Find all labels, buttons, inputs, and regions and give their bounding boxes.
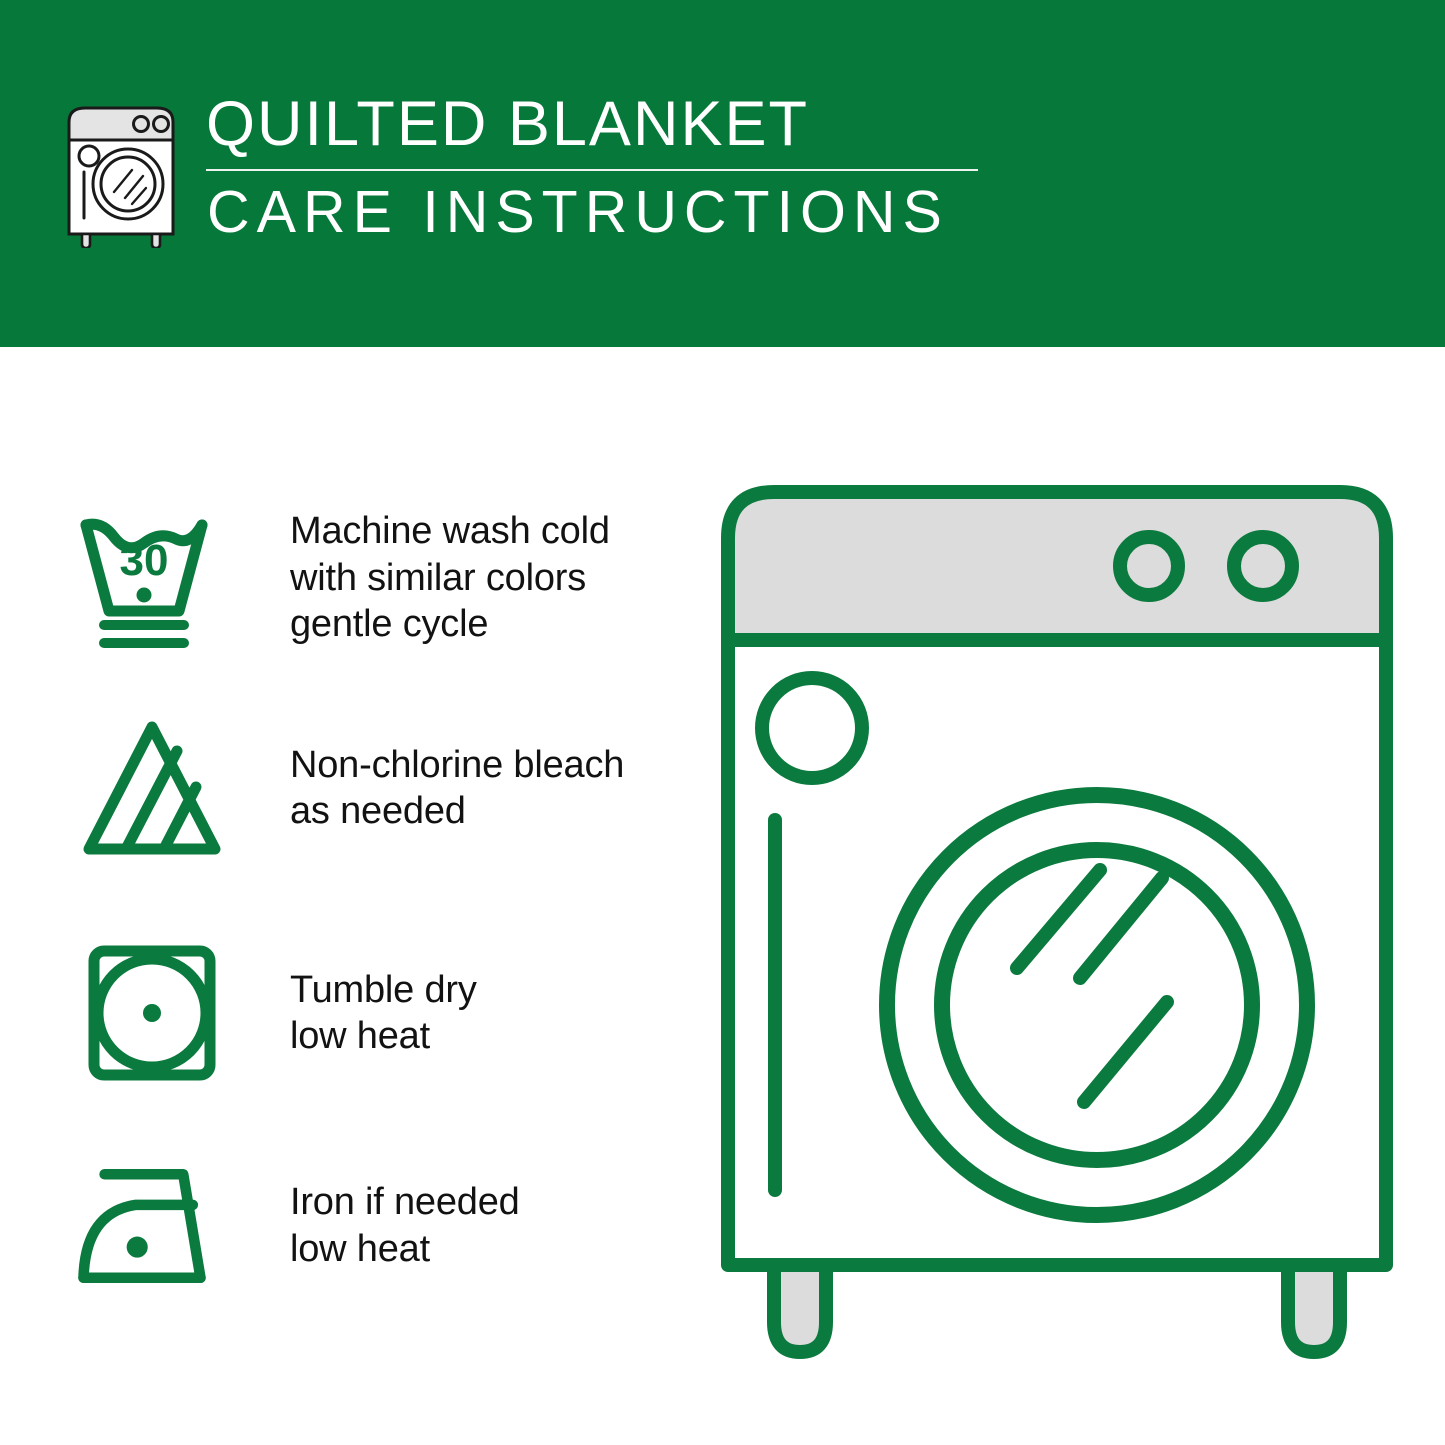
care-item-machine-wash: 30 Machine wash cold with similar colors… (60, 498, 680, 658)
page-subtitle: CARE INSTRUCTIONS (204, 182, 1044, 244)
header-content: QUILTED BLANKET CARE INSTRUCTIONS (62, 92, 1002, 267)
door-inner-ring (942, 850, 1252, 1160)
care-text-line: as needed (290, 788, 680, 834)
title-divider (206, 169, 978, 171)
care-text-line: low heat (290, 1226, 680, 1272)
care-text-line: with similar colors (290, 555, 680, 601)
care-instruction-list: 30 Machine wash cold with similar colors… (0, 347, 700, 1445)
care-text-line: low heat (290, 1013, 680, 1059)
care-text-line: Machine wash cold (290, 508, 680, 554)
non-chlorine-bleach-triangle-icon (60, 713, 235, 863)
knob-left (1120, 537, 1178, 595)
care-item-tumble-dry: Tumble dry low heat (60, 943, 680, 1083)
front-load-washing-machine-illustration (712, 470, 1402, 1370)
knob-right (1234, 537, 1292, 595)
care-text-line: Tumble dry (290, 967, 680, 1013)
wash-temperature-label: 30 (120, 536, 169, 585)
washing-machine-logo-icon (62, 98, 190, 248)
care-item-iron-text: Iron if needed low heat (235, 1179, 680, 1272)
care-item-machine-wash-text: Machine wash cold with similar colors ge… (235, 508, 680, 647)
care-text-line: gentle cycle (290, 601, 680, 647)
care-item-tumble-dry-text: Tumble dry low heat (235, 967, 680, 1060)
tumble-dry-low-icon (60, 938, 235, 1088)
leg-right (1288, 1265, 1340, 1352)
care-instructions-page: QUILTED BLANKET CARE INSTRUCTIONS (0, 0, 1445, 1445)
heat-dot-icon (127, 1236, 148, 1257)
care-text-line: Iron if needed (290, 1179, 680, 1225)
page-title: QUILTED BLANKET (204, 92, 1044, 156)
detergent-dispenser-circle (762, 678, 862, 778)
care-text-line: Non-chlorine bleach (290, 742, 680, 788)
header-title-block: QUILTED BLANKET CARE INSTRUCTIONS (204, 92, 1044, 244)
care-item-bleach: Non-chlorine bleach as needed (60, 713, 680, 863)
iron-low-heat-icon (60, 1156, 235, 1296)
care-item-iron: Iron if needed low heat (60, 1153, 680, 1298)
heat-dot-icon (137, 588, 152, 603)
wash-tub-30-icon: 30 (60, 503, 235, 653)
heat-dot-icon (143, 1004, 161, 1022)
header-band: QUILTED BLANKET CARE INSTRUCTIONS (0, 0, 1445, 347)
leg-left (774, 1265, 826, 1352)
care-item-bleach-text: Non-chlorine bleach as needed (235, 742, 680, 835)
